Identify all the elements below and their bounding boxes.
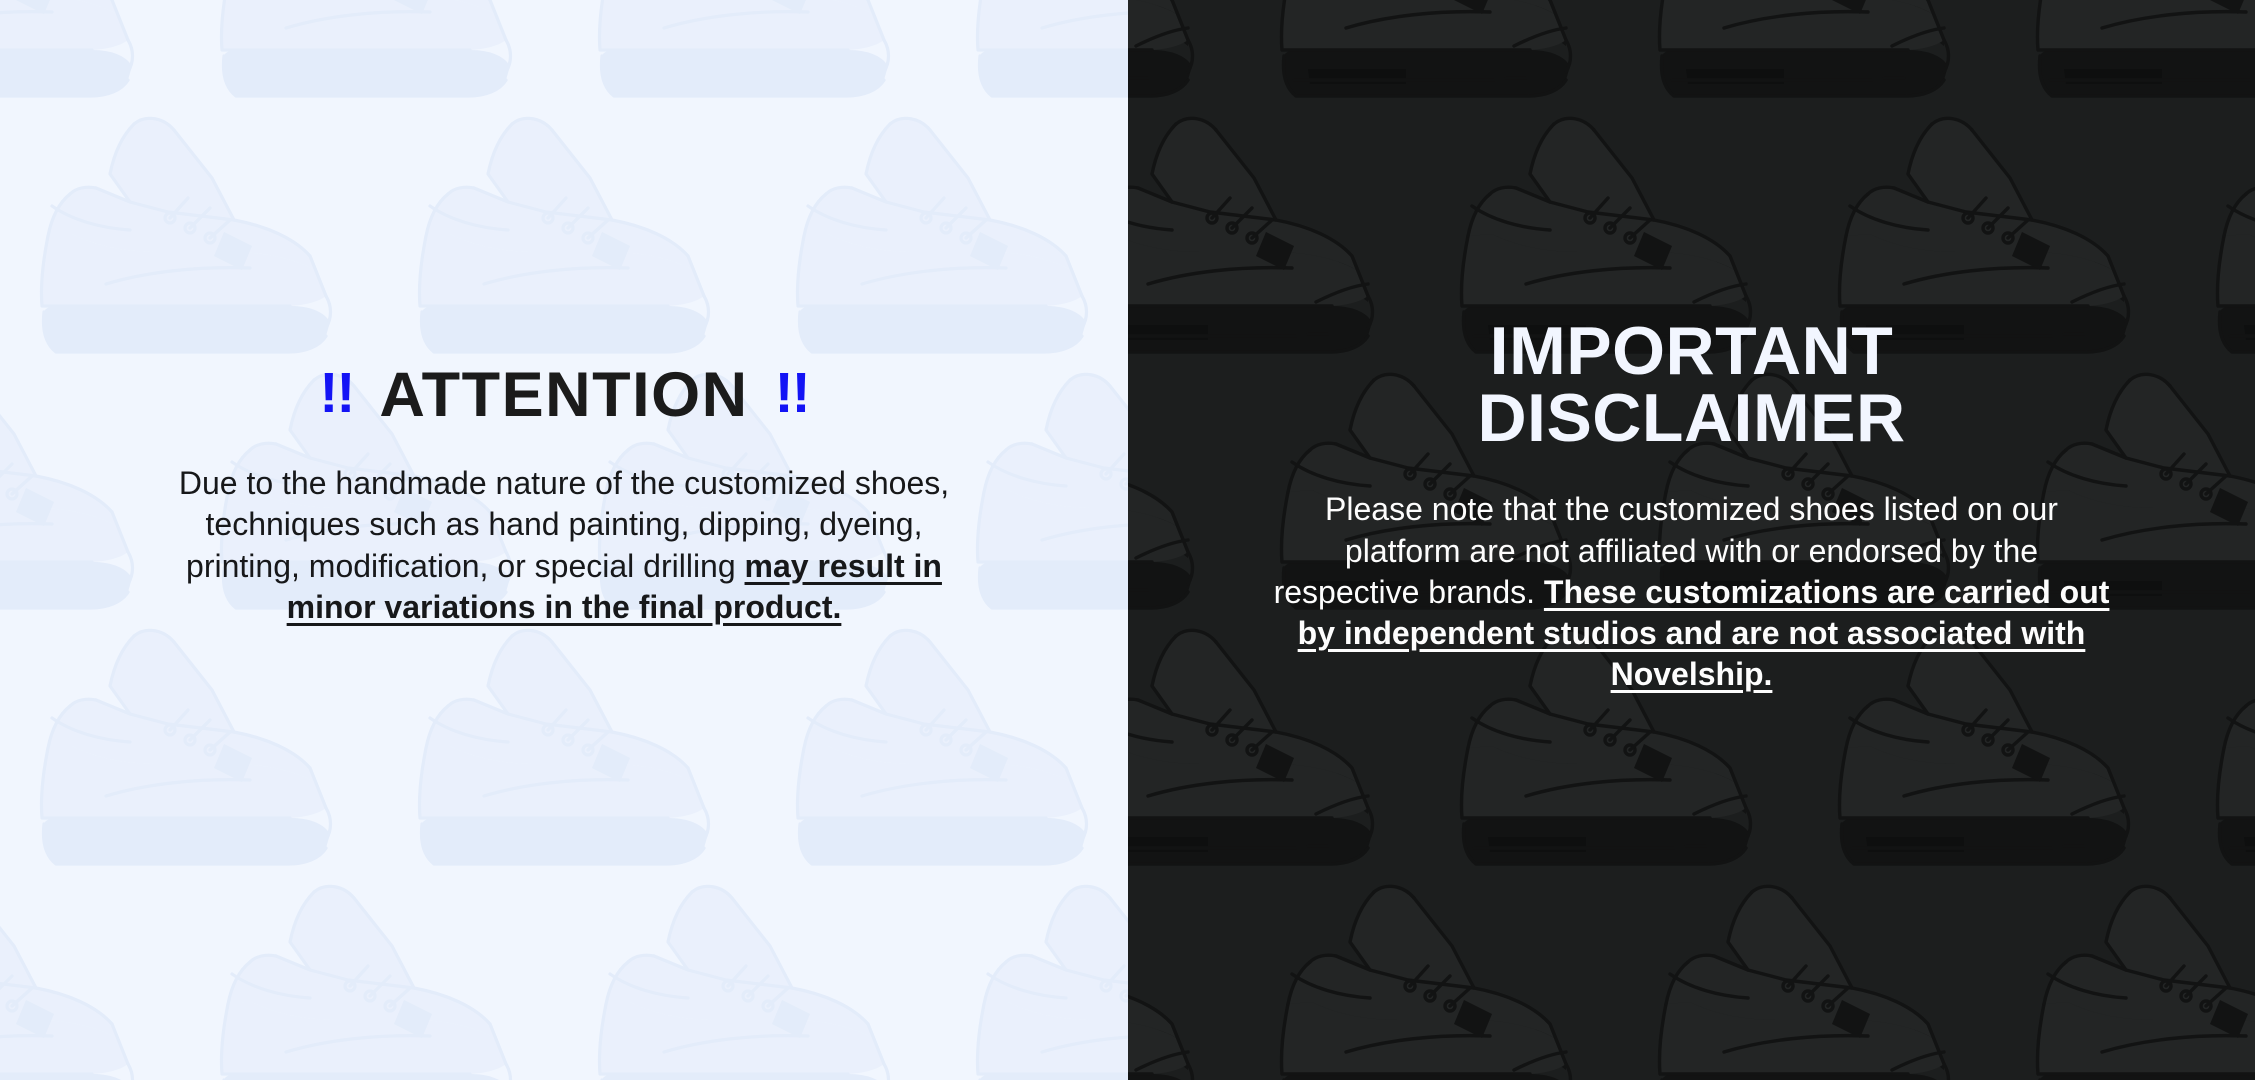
double-exclamation-right-icon: !! [775,365,809,422]
attention-panel: !! ATTENTION !! Due to the handmade natu… [0,0,1128,1080]
disclaimer-panel: IMPORTANT DISCLAIMER Please note that th… [1128,0,2255,1080]
disclaimer-banner: !! ATTENTION !! Due to the handmade natu… [0,0,2255,1080]
disclaimer-heading: IMPORTANT DISCLAIMER [1477,318,1905,451]
attention-body: Due to the handmade nature of the custom… [164,463,964,628]
disclaimer-heading-line-one: IMPORTANT [1490,313,1894,389]
disclaimer-content: IMPORTANT DISCLAIMER Please note that th… [1128,0,2255,696]
double-exclamation-left-icon: !! [319,365,353,422]
attention-content: !! ATTENTION !! Due to the handmade natu… [0,0,1128,628]
attention-heading-text: ATTENTION [379,364,748,427]
disclaimer-heading-line-two: DISCLAIMER [1477,380,1905,456]
disclaimer-body: Please note that the customized shoes li… [1273,489,2111,695]
attention-heading: !! ATTENTION !! [319,364,808,427]
